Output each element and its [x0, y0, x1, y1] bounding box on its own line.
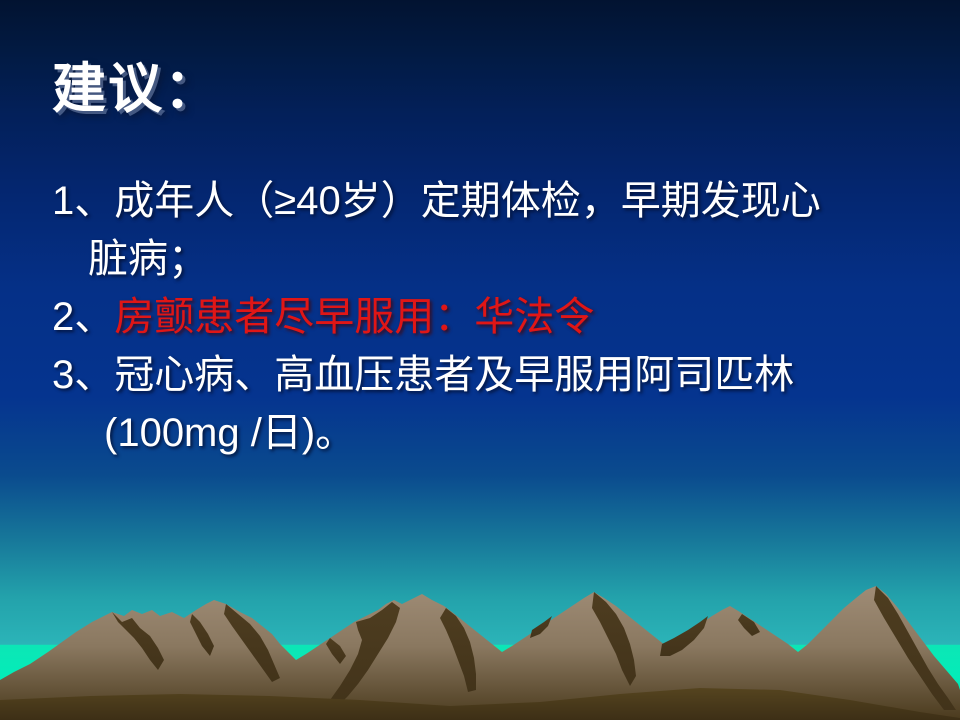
mountain-range-graphic [0, 560, 960, 720]
bullet-line-3-continued: (100mg /日)。 [52, 404, 932, 462]
bullet-line-2: 2、房颤患者尽早服用：华法令 [52, 288, 932, 346]
slide-body-content: 1、成年人（≥40岁）定期体检，早期发现心 脏病； 2、房颤患者尽早服用：华法令… [52, 172, 932, 462]
presentation-slide: 建议： 1、成年人（≥40岁）定期体检，早期发现心 脏病； 2、房颤患者尽早服用… [0, 0, 960, 720]
bullet-line-3: 3、冠心病、高血压患者及早服用阿司匹林 [52, 346, 932, 404]
bullet-line-2-marker: 2、 [52, 295, 114, 339]
slide-title: 建议： [52, 44, 220, 123]
bullet-line-2-highlight: 房颤患者尽早服用：华法令 [114, 295, 594, 339]
bullet-line-1-continued: 脏病； [52, 230, 932, 288]
bullet-line-1: 1、成年人（≥40岁）定期体检，早期发现心 [52, 172, 932, 230]
